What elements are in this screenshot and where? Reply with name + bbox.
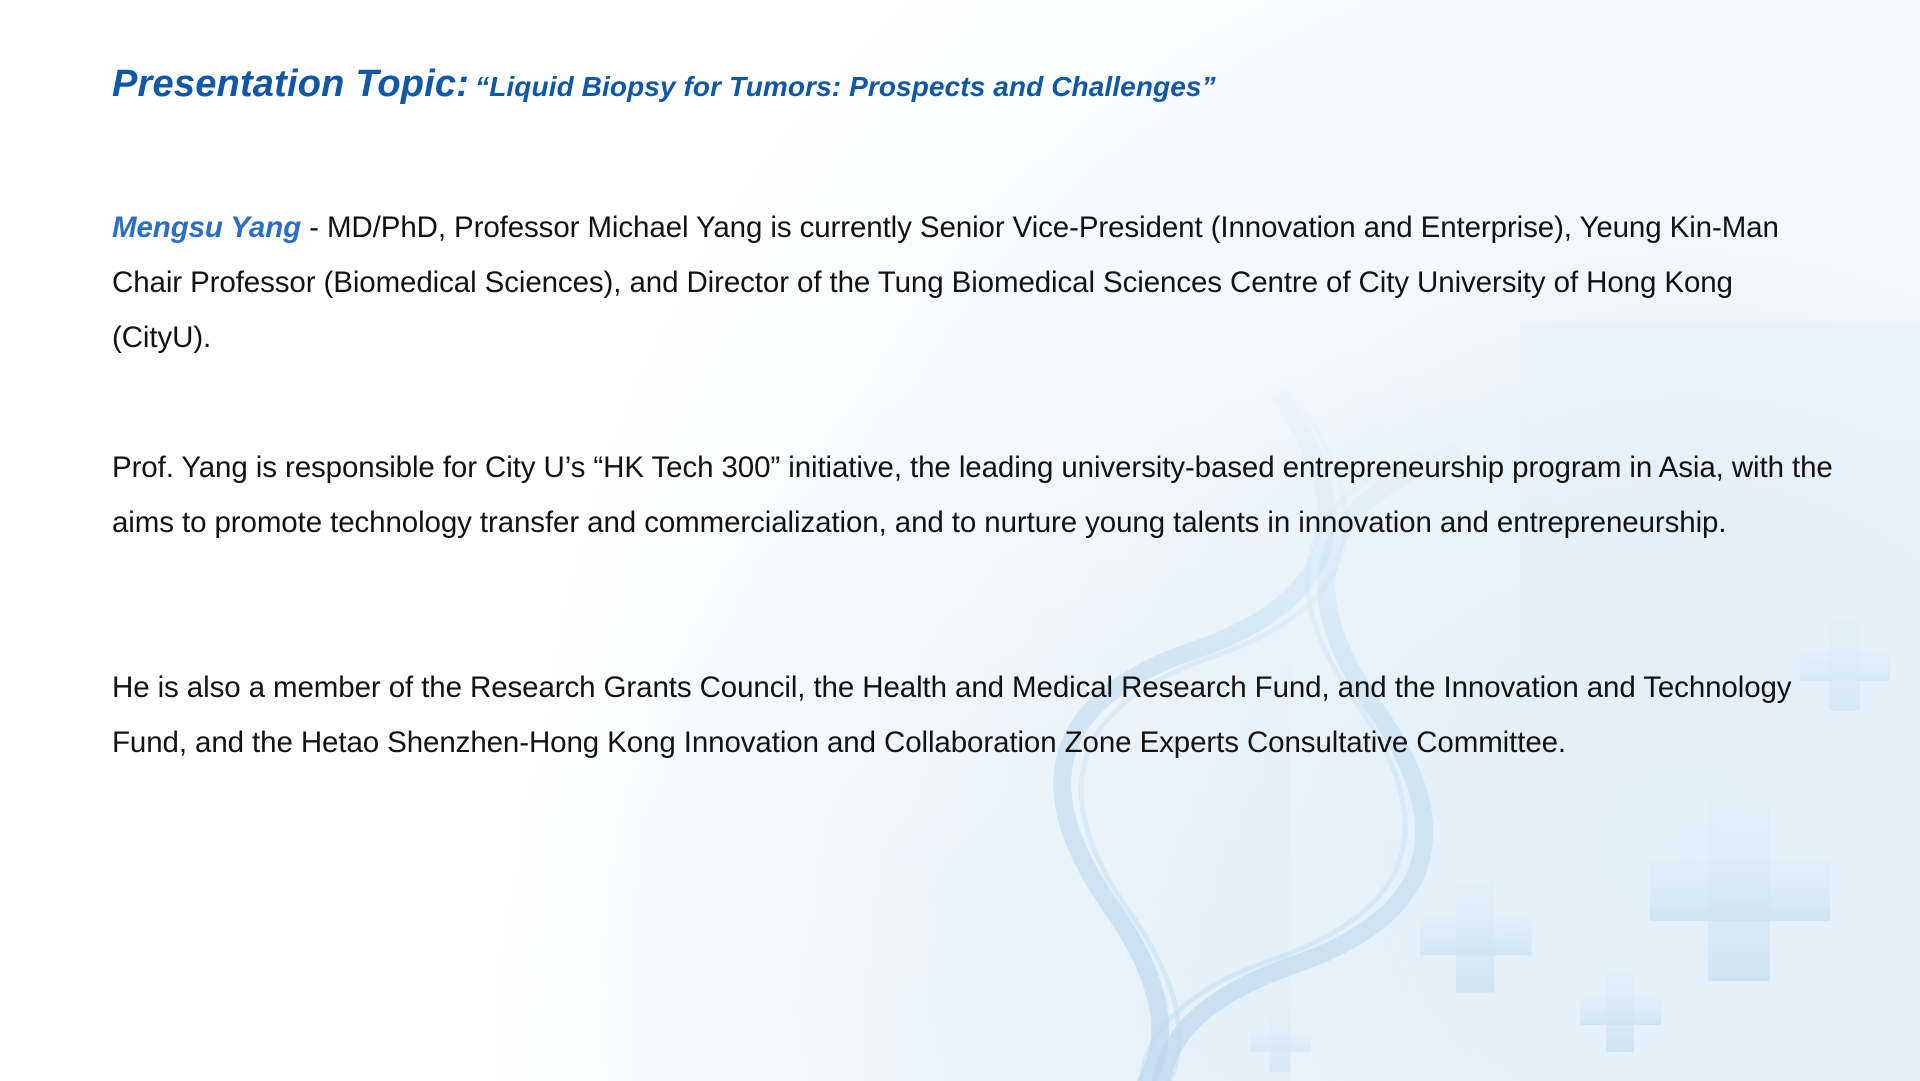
presentation-topic-value: “Liquid Biopsy for Tumors: Prospects and… bbox=[475, 71, 1216, 102]
speaker-bio-text: - MD/PhD, Professor Michael Yang is curr… bbox=[112, 211, 1779, 354]
speaker-bio-paragraph: Mengsu Yang - MD/PhD, Professor Michael … bbox=[112, 200, 1832, 365]
slide-title: Presentation Topic:“Liquid Biopsy for Tu… bbox=[112, 63, 1216, 106]
presentation-topic-label: Presentation Topic: bbox=[112, 63, 469, 105]
hk-tech-300-paragraph: Prof. Yang is responsible for City U’s “… bbox=[112, 440, 1857, 550]
speaker-name: Mengsu Yang bbox=[112, 211, 301, 244]
presentation-slide: Presentation Topic:“Liquid Biopsy for Tu… bbox=[0, 0, 1920, 1081]
memberships-paragraph: He is also a member of the Research Gran… bbox=[112, 660, 1842, 770]
